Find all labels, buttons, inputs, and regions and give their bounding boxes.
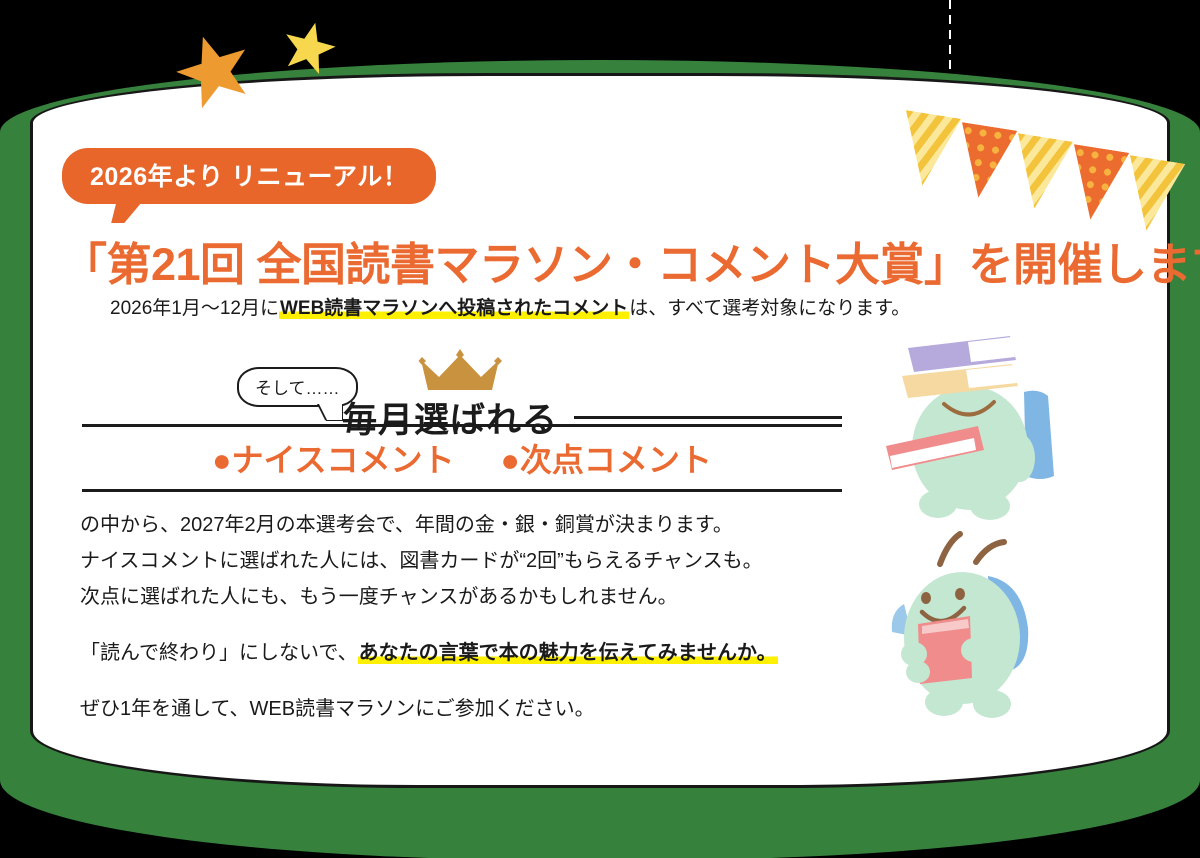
subtitle-post: は、すべて選考対象になります。 (629, 298, 910, 319)
poster-canvas: 2026年より リニューアル！ 「第21回 全国読書マラソン・コメント大賞」を開… (0, 0, 1200, 858)
cta-pre: 「読んで終わり」にしないで、 (80, 642, 358, 664)
subtitle-pre: 2026年1月～12月に (110, 298, 279, 319)
bunting-flag-stripe-1 (895, 110, 962, 190)
rule-line-right (574, 416, 842, 419)
paragraph-spacer-2 (80, 671, 880, 691)
body-line-3: 次点に選ばれた人にも、もう一度チャンスがあるかもしれません。 (80, 579, 880, 615)
rule-line-middle (82, 424, 842, 427)
rule-line-under (82, 489, 842, 492)
crown-icon (418, 347, 502, 391)
comment-type-list: ●ナイスコメント ●次点コメント (82, 435, 842, 481)
comment-type-runnerup: ●次点コメント (501, 435, 712, 481)
bunting-decoration (880, 98, 1200, 233)
bunting-flag-dot-1 (951, 122, 1018, 202)
subtitle-highlight: WEB読書マラソンへ投稿されたコメント (279, 298, 629, 319)
paragraph-spacer (80, 615, 880, 635)
body-line-4: 「読んで終わり」にしないで、あなたの言葉で本の魅力を伝えてみませんか。 (80, 635, 880, 671)
body-line-5: ぜひ1年を通して、WEB読書マラソンにご参加ください。 (80, 691, 880, 727)
headline-subtitle: 2026年1月～12月にWEB読書マラソンへ投稿されたコメントは、すべて選考対象… (110, 293, 1110, 320)
bunting-flag-stripe-2 (1007, 133, 1074, 213)
body-line-2: ナイスコメントに選ばれた人には、図書カードが“2回”もらえるチャンスも。 (80, 543, 880, 579)
comment-type-nice: ●ナイスコメント (212, 435, 454, 481)
body-copy: の中から、2027年2月の本選考会で、年間の金・銀・銅賞が決まります。 ナイスコ… (80, 507, 880, 727)
renewal-badge: 2026年より リニューアル！ (62, 148, 436, 204)
page-title: 「第21回 全国読書マラソン・コメント大賞」を開催します。 (62, 228, 1142, 293)
mascot-with-books-illustration (852, 330, 1102, 530)
bunting-flag-dot-2 (1063, 144, 1130, 224)
cta-highlight: あなたの言葉で本の魅力を伝えてみませんか。 (358, 642, 778, 664)
bunting-flag-stripe-3 (1119, 155, 1186, 235)
mascot-caterpillar-illustration (852, 520, 1102, 720)
body-line-1: の中から、2027年2月の本選考会で、年間の金・銀・銅賞が決まります。 (80, 507, 880, 543)
